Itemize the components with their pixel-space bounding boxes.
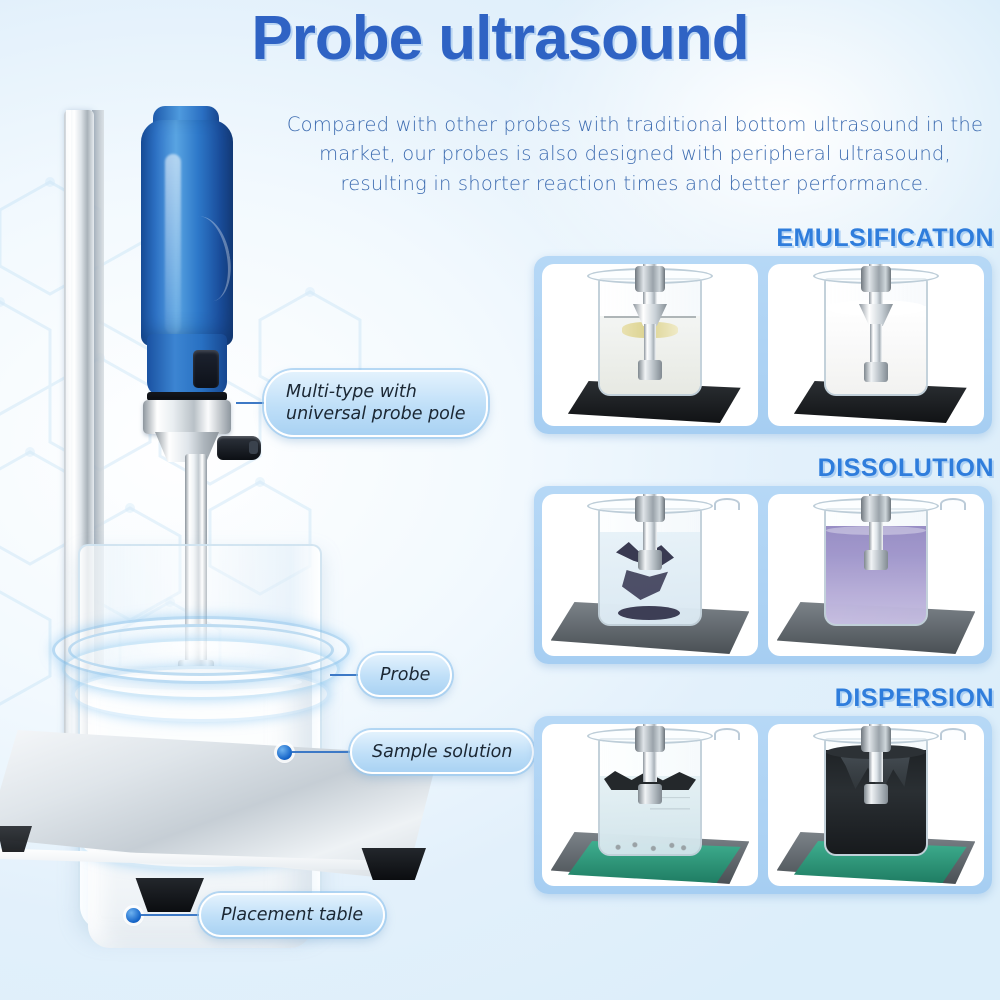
- beaker-spout: [714, 728, 740, 740]
- probe-tip: [864, 550, 888, 570]
- panel-title: EMULSIFICATION: [776, 222, 994, 254]
- callout-label: Sample solution: [350, 730, 534, 774]
- callout-leader-line: [236, 402, 264, 404]
- probe-collar: [861, 496, 891, 522]
- panel-frame: [534, 716, 992, 894]
- photo-emulsification-before[interactable]: [542, 264, 758, 426]
- infographic-canvas: Probe ultrasound Compared with other pro…: [0, 0, 1000, 1000]
- callout-label: Placement table: [199, 893, 385, 937]
- callout-placement-table: Placement table: [126, 893, 385, 937]
- beaker-scene: [542, 264, 758, 426]
- callout-leader-line: [330, 674, 358, 676]
- dye-sediment: [618, 606, 680, 620]
- dye-streak: [622, 570, 668, 600]
- panel-title: DISPERSION: [835, 682, 994, 714]
- rubber-foot: [0, 826, 32, 852]
- callout-probe: Probe: [330, 653, 452, 697]
- panel-title: DISSOLUTION: [818, 452, 994, 484]
- probe-collar: [635, 726, 665, 752]
- device-illustration: [0, 100, 470, 1000]
- beaker-spout: [940, 498, 966, 510]
- panel-emulsification: EMULSIFICATION: [528, 222, 998, 444]
- probe-lower-shaft: [644, 324, 656, 364]
- callout-leader-line: [141, 914, 199, 916]
- probe-collar: [861, 266, 891, 292]
- bubbles: [608, 840, 692, 852]
- beaker-spout: [714, 498, 740, 510]
- probe-collar: [635, 266, 665, 292]
- ultrasound-wave-ring: [72, 666, 330, 722]
- beaker-spout: [940, 728, 966, 740]
- callout-sample-solution: Sample solution: [277, 730, 534, 774]
- probe-lower-shaft: [870, 324, 882, 366]
- probe-tip: [864, 362, 888, 382]
- beaker-scene: [542, 724, 758, 886]
- photo-dissolution-after[interactable]: [768, 494, 984, 656]
- callout-label: Probe: [358, 653, 452, 697]
- probe-collar: [861, 726, 891, 752]
- application-panels: EMULSIFICATION: [528, 222, 998, 912]
- photo-dissolution-before[interactable]: [542, 494, 758, 656]
- panel-dissolution: DISSOLUTION: [528, 452, 998, 674]
- panel-frame: [534, 256, 992, 434]
- probe-tip: [638, 550, 662, 570]
- photo-emulsification-after[interactable]: [768, 264, 984, 426]
- beaker-scene: [768, 494, 984, 656]
- beaker-scene: [542, 494, 758, 656]
- callout-leader-line: [292, 751, 350, 753]
- photo-dispersion-after[interactable]: [768, 724, 984, 886]
- callout-dot: [277, 745, 292, 760]
- beaker-scene: [768, 724, 984, 886]
- callout-label: Multi-type with universal probe pole: [264, 370, 488, 437]
- callout-multi-type: Multi-type with universal probe pole: [236, 370, 488, 437]
- panel-frame: [534, 486, 992, 664]
- panel-dispersion: DISPERSION: [528, 682, 998, 904]
- beaker-scene: [768, 264, 984, 426]
- probe-tip: [864, 784, 888, 804]
- photo-dispersion-before[interactable]: [542, 724, 758, 886]
- probe-tip: [638, 784, 662, 804]
- callout-dot: [126, 908, 141, 923]
- probe-collar: [635, 496, 665, 522]
- probe-tip: [638, 360, 662, 380]
- page-title: Probe ultrasound: [0, 8, 1000, 70]
